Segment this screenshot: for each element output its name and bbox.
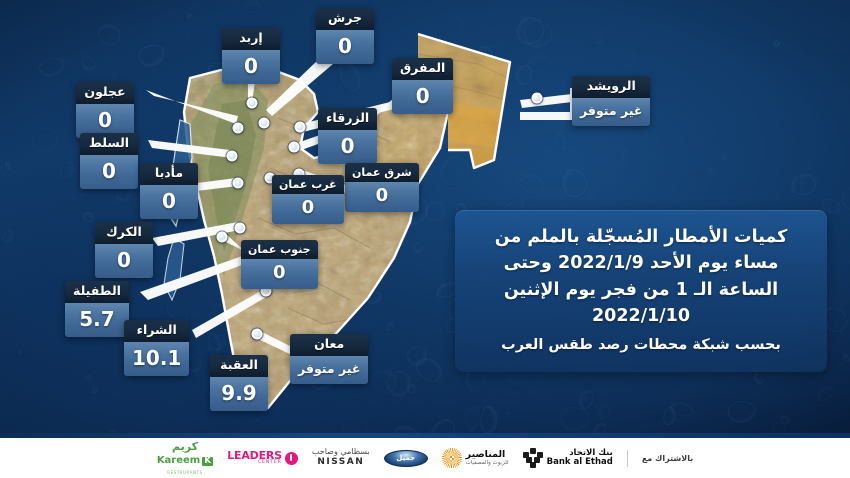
logo-manaseer[interactable]: المناصير للزيوت والمصفيات [442,448,509,468]
logo-manaseer-sub: للزيوت والمصفيات [466,460,509,466]
station-name-ruwaished: الرويشد [572,76,650,98]
station-name-irbid: إربد [222,28,280,50]
station-card-madaba[interactable]: مأدبا 0 [140,163,198,219]
station-value-tafila: 5.7 [65,303,129,337]
station-value-shara: 10.1 [124,342,189,376]
station-value-maan: غير متوفر [290,356,368,385]
station-name-karak: الكرك [95,222,153,244]
logo-leaders-sub: CENTER [227,461,282,466]
station-dot-ajloun [233,123,244,134]
station-card-jerash[interactable]: جرش 0 [316,8,374,64]
station-value-jerash: 0 [316,30,374,64]
station-dot-jerash [259,118,270,129]
station-name-aqaba: العقبة [210,355,268,377]
station-value-south-amman: 0 [241,259,318,289]
station-name-south-amman: جنوب عمان [241,240,318,259]
station-value-west-amman: 0 [272,194,344,224]
station-value-irbid: 0 [222,50,280,84]
station-name-maan: معان [290,334,368,356]
logo-kareem-latin: Kareem [157,456,200,467]
station-value-karak: 0 [95,244,153,278]
station-card-west-amman[interactable]: غرب عمان 0 [272,175,344,224]
station-card-karak[interactable]: الكرك 0 [95,222,153,278]
station-dot-south-amman [217,232,228,243]
station-name-west-amman: غرب عمان [272,175,344,194]
station-dot-ruwaished [532,93,543,104]
logo-bank-al-etihad[interactable]: بنك الاتحاد Bank al Ethad [523,448,613,468]
info-panel-primary-text: كميات الأمطار المُسجّلة بالملم من مساء ي… [471,224,811,329]
partner-label: بالاشتراك مع [642,454,693,463]
logo-nissan-latin: NISSAN [317,457,364,468]
logo-kareem[interactable]: كريم K Kareem RESTAURANTS [157,441,213,475]
logo-kareem-sub: RESTAURANTS [167,471,203,475]
infographic-canvas: جرش 0 إربد 0 المفرق 0 الرويشد غير متوفر … [0,0,850,478]
station-value-madaba: 0 [140,185,198,219]
station-name-tafila: الطفيلة [65,281,129,303]
station-card-east-amman[interactable]: شرق عمان 0 [345,163,419,212]
station-name-zarqa: الزرقاء [318,108,377,130]
logo-manaseer-arabic: المناصير [466,450,506,460]
logo-leaders[interactable]: LEADERS CENTER [227,450,298,466]
station-name-mafraq: المفرق [392,58,453,80]
station-value-east-amman: 0 [345,182,419,212]
station-value-mafraq: 0 [392,80,453,114]
station-value-zarqa: 0 [318,130,377,164]
station-dot-maan [252,329,263,340]
station-card-irbid[interactable]: إربد 0 [222,28,280,84]
station-name-jerash: جرش [316,8,374,30]
sponsor-footer: بالاشتراك مع بنك الاتحاد Bank al Ethad ا… [0,438,850,478]
station-value-ruwaished: غير متوفر [572,98,650,127]
station-card-salt[interactable]: السلط 0 [80,133,138,189]
station-name-salt: السلط [80,133,138,155]
station-value-salt: 0 [80,155,138,189]
station-card-aqaba[interactable]: العقبة 9.9 [210,355,268,411]
station-value-aqaba: 9.9 [210,377,268,411]
station-card-zarqa[interactable]: الزرقاء 0 [318,108,377,164]
station-card-ruwaished[interactable]: الرويشد غير متوفر [572,76,650,126]
footer-separator [627,450,628,467]
station-dot-mafraq [295,122,306,133]
station-card-tafila[interactable]: الطفيلة 5.7 [65,281,129,337]
logo-jameel-arabic: جميل [396,454,415,462]
station-card-shara[interactable]: الشراء 10.1 [124,320,189,376]
station-name-ajloun: عجلون [76,82,134,104]
kareem-badge-icon: K [202,457,213,466]
station-dot-zarqa [289,142,300,153]
station-card-mafraq[interactable]: المفرق 0 [392,58,453,114]
logo-jameel[interactable]: جميل [384,450,428,467]
station-card-ajloun[interactable]: عجلون 0 [76,82,134,138]
station-card-south-amman[interactable]: جنوب عمان 0 [241,240,318,289]
station-dot-irbid [247,98,258,109]
station-dot-salt [227,151,238,162]
station-dot-madaba [233,178,244,189]
bank-al-etihad-mark-icon [523,448,543,468]
station-dot-karak [235,223,246,234]
station-name-shara: الشراء [124,320,189,342]
logo-bank-al-etihad-latin: Bank al Ethad [547,458,613,467]
info-panel: كميات الأمطار المُسجّلة بالملم من مساء ي… [455,210,827,372]
station-card-maan[interactable]: معان غير متوفر [290,334,368,384]
info-panel-source-text: بحسب شبكة محطات رصد طقس العرب [471,335,811,357]
station-name-east-amman: شرق عمان [345,163,419,182]
station-name-madaba: مأدبا [140,163,198,185]
leaders-power-icon [285,452,298,465]
logo-nissan-arabic: بسطامي وصاحب [312,447,370,457]
logo-kareem-arabic: كريم [172,441,198,453]
manaseer-sunburst-icon [442,448,462,468]
jameel-oval-icon: جميل [384,450,428,467]
logo-nissan[interactable]: بسطامي وصاحب NISSAN [312,447,370,468]
